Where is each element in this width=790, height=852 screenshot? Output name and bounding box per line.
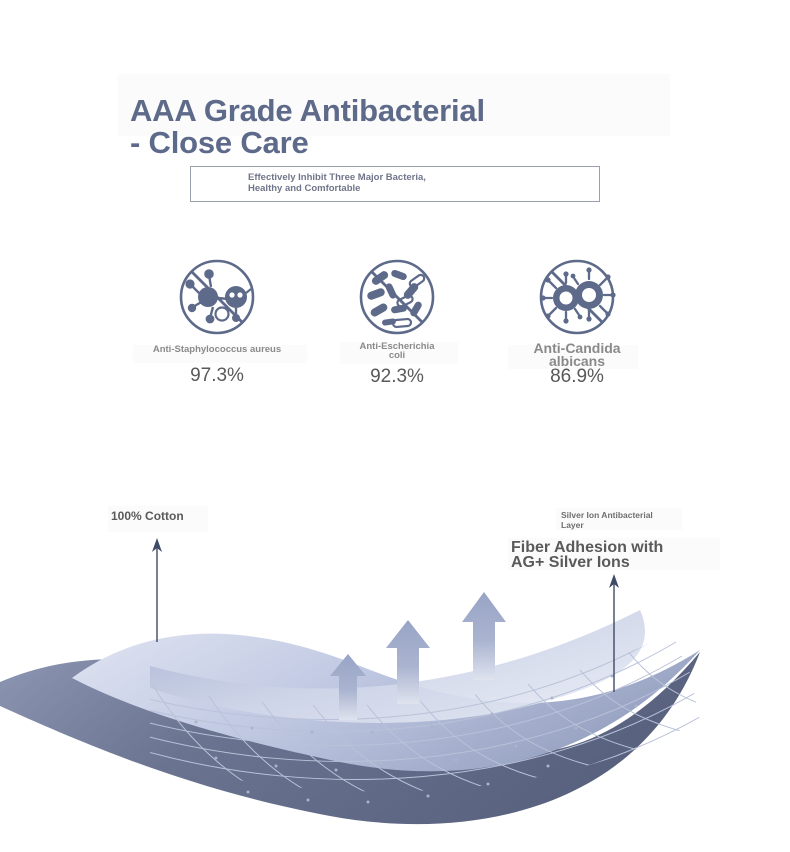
anti-candida-albicans-icon xyxy=(487,255,667,339)
callout-silver-ion-layer: Silver Ion Antibacterial Layer xyxy=(561,511,653,531)
bacteria-card-staphylococcus: Anti-Staphylococcus aureus 97.3% xyxy=(127,255,307,387)
fabric-layer-diagram xyxy=(0,470,790,852)
bacteria-percent: 92.3% xyxy=(307,366,487,388)
subtitle-text: Effectively Inhibit Three Major Bacteria… xyxy=(248,172,568,194)
bacteria-label: Anti-Candida albicans xyxy=(487,342,667,368)
bacteria-label: Anti-Escherichia coli xyxy=(307,342,487,360)
page-title: AAA Grade Antibacterial - Close Care xyxy=(130,95,730,158)
bacteria-card-escherichia-coli: Anti-Escherichia coli 92.3% xyxy=(307,255,487,388)
callout-cotton: 100% Cotton xyxy=(111,510,184,523)
bacteria-label: Anti-Staphylococcus aureus xyxy=(127,345,307,355)
infographic-canvas: AAA Grade Antibacterial - Close Care Eff… xyxy=(0,0,790,852)
bacteria-card-candida-albicans: Anti-Candida albicans 86.9% xyxy=(487,255,667,388)
anti-escherichia-coli-icon xyxy=(307,255,487,339)
bacteria-percent: 86.9% xyxy=(487,366,667,388)
anti-staphylococcus-icon xyxy=(127,255,307,339)
callout-fiber-adhesion: Fiber Adhesion with AG+ Silver Ions xyxy=(511,540,663,570)
bacteria-percent: 97.3% xyxy=(127,365,307,387)
